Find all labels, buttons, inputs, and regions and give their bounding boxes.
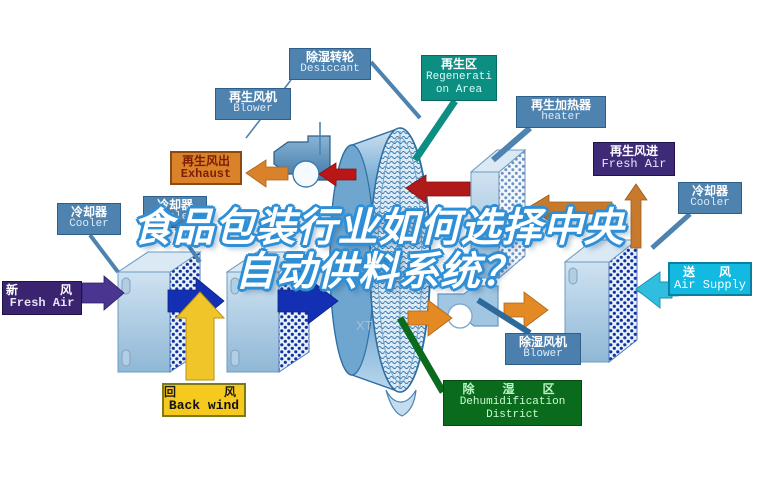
label-dehum-district: 除 湿 区 Dehumidification District: [443, 380, 582, 426]
label-regen-blower: 再生风机 Blower: [215, 88, 291, 120]
label-dehum-blower-en: Blower: [506, 349, 580, 361]
label-dehum-district-en: Dehumidification District: [444, 396, 581, 422]
label-cooler-left-1-cn: 冷却器: [58, 206, 120, 219]
arrow-regen-fresh-air-horizontal: [529, 195, 612, 221]
label-cooler-left-2-cn: 冷却器: [144, 199, 206, 212]
label-cooler-left-2: 冷却器 Cooler: [143, 196, 207, 228]
label-regen-area-cn: 再生区: [422, 58, 496, 71]
label-back-wind-cn: 回 风: [164, 386, 244, 399]
label-regen-fresh-air: 再生风进 Fresh Air: [593, 142, 675, 176]
label-regen-fresh-air-en: Fresh Air: [594, 158, 674, 171]
diagram-canvas: XT: [0, 0, 757, 488]
label-air-supply-en: Air Supply: [670, 279, 750, 292]
arrow-regen-fresh-air-riser: [625, 184, 647, 248]
label-cooler-right-cn: 冷却器: [679, 185, 741, 198]
label-back-wind-en: Back wind: [164, 399, 244, 413]
label-air-supply: 送 风 Air Supply: [668, 262, 752, 296]
label-cooler-right-en: Cooler: [679, 198, 741, 210]
label-regen-area-en: Regenerati on Area: [422, 71, 496, 97]
regeneration-heater-coil: [471, 150, 525, 278]
watermark: XT: [356, 318, 373, 333]
label-cooler-right: 冷却器 Cooler: [678, 182, 742, 214]
label-cooler-left-1-en: Cooler: [58, 219, 120, 231]
label-back-wind: 回 风 Back wind: [162, 383, 246, 417]
label-regen-area: 再生区 Regenerati on Area: [421, 55, 497, 101]
label-cooler-left-1: 冷却器 Cooler: [57, 203, 121, 235]
label-desiccant-wheel-cn: 除湿转轮: [290, 51, 370, 64]
label-regen-exhaust-en: Exhaust: [172, 168, 240, 181]
label-regen-heater-en: heater: [517, 112, 605, 124]
label-dehum-blower: 除湿风机 Blower: [505, 333, 581, 365]
label-regen-fresh-air-cn: 再生风进: [594, 145, 674, 158]
label-fresh-air-inlet-cn: 新 风: [3, 284, 81, 297]
label-fresh-air-inlet: 新 风 Fresh Air: [2, 281, 82, 315]
label-desiccant-wheel-en: Desiccant: [290, 64, 370, 76]
label-regen-heater-cn: 再生加热器: [517, 99, 605, 112]
dehumidifier-schematic: XT: [0, 0, 757, 488]
label-cooler-left-2-en: Cooler: [144, 212, 206, 224]
label-regen-heater: 再生加热器 heater: [516, 96, 606, 128]
label-desiccant-wheel: 除湿转轮 Desiccant: [289, 48, 371, 80]
label-regen-exhaust-cn: 再生风出: [172, 155, 240, 168]
label-regen-blower-cn: 再生风机: [216, 91, 290, 104]
label-air-supply-cn: 送 风: [670, 266, 750, 279]
label-dehum-district-cn: 除 湿 区: [444, 383, 581, 396]
label-dehum-blower-cn: 除湿风机: [506, 336, 580, 349]
arrow-air-supply-main: [636, 272, 672, 308]
label-fresh-air-inlet-en: Fresh Air: [3, 297, 81, 310]
label-regen-exhaust: 再生风出 Exhaust: [170, 151, 242, 185]
label-regen-blower-en: Blower: [216, 104, 290, 116]
